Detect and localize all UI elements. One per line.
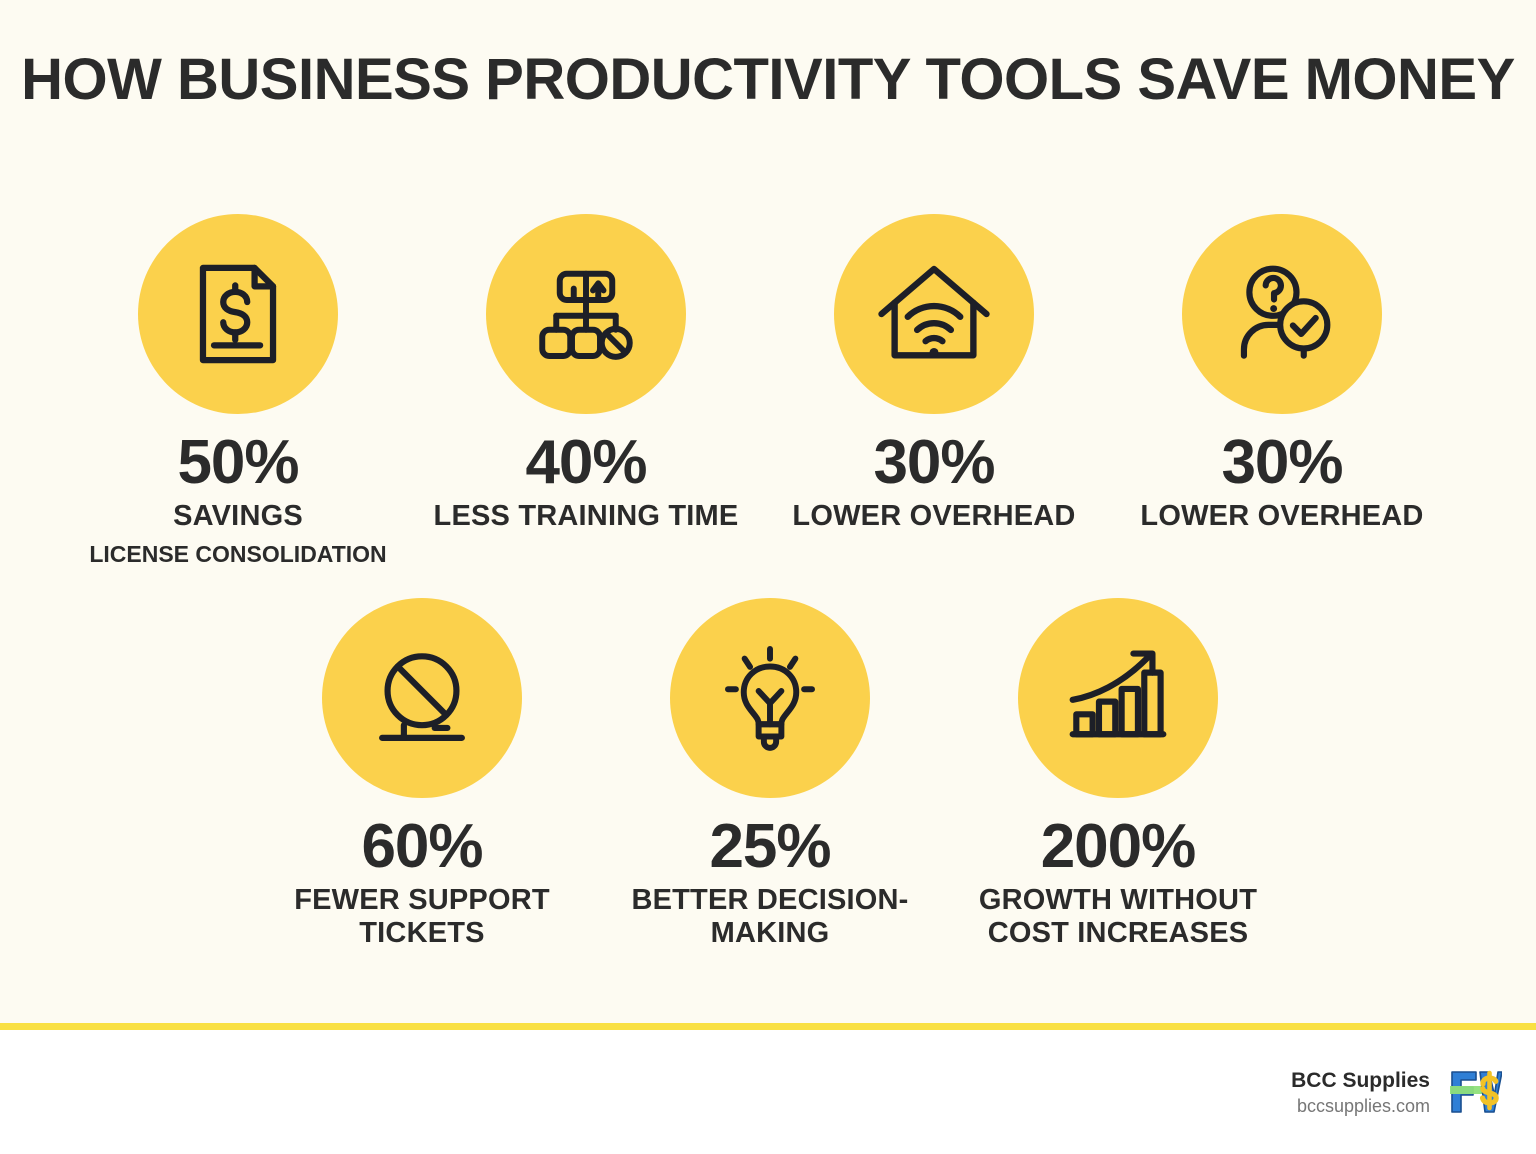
stat-value: 60% (361, 814, 482, 880)
stat-label: LOWER OVERHEAD (1140, 500, 1423, 533)
stat-value: 30% (873, 430, 994, 496)
stat-card-overhead-1: 30% LOWER OVERHEAD (760, 214, 1108, 568)
brand-name: BCC Supplies (1291, 1067, 1430, 1094)
icon-circle (1018, 598, 1218, 798)
icon-circle (834, 214, 1034, 414)
invoice-dollar-icon (179, 255, 297, 373)
infographic-root: HOW BUSINESS PRODUCTIVITY TOOLS SAVE MON… (0, 0, 1536, 1154)
footer: BCC Supplies bccsupplies.com (0, 1030, 1536, 1154)
icon-circle (322, 598, 522, 798)
growth-chart-icon (1060, 640, 1176, 756)
page-title: HOW BUSINESS PRODUCTIVITY TOOLS SAVE MON… (0, 48, 1536, 112)
stat-label: SAVINGS (173, 500, 303, 533)
brand-text-block: BCC Supplies bccsupplies.com (1291, 1067, 1430, 1118)
stat-value: 50% (177, 430, 298, 496)
stat-value: 25% (709, 814, 830, 880)
stat-label: FEWER SUPPORT TICKETS (248, 884, 596, 950)
stat-card-training: 40% LESS TRAINING TIME (412, 214, 760, 568)
stats-row-bottom: 60% FEWER SUPPORT TICKETS (0, 598, 1536, 958)
lightbulb-icon (714, 642, 826, 754)
stat-card-decision-making: 25% BETTER DECISION-MAKING (596, 598, 944, 958)
icon-circle (486, 214, 686, 414)
stat-value: 200% (1041, 814, 1196, 880)
icon-circle (138, 214, 338, 414)
stat-sublabel: LICENSE CONSOLIDATION (89, 541, 386, 568)
stat-value: 30% (1221, 430, 1342, 496)
stat-label: LESS TRAINING TIME (434, 500, 739, 533)
no-ticket-icon (364, 640, 480, 756)
stat-value: 40% (525, 430, 646, 496)
stat-label: LOWER OVERHEAD (792, 500, 1075, 533)
stat-card-overhead-2: 30% LOWER OVERHEAD (1108, 214, 1456, 568)
stat-label: GROWTH WITHOUT COST INCREASES (944, 884, 1292, 950)
stats-row-top: 50% SAVINGS LICENSE CONSOLIDATION (0, 214, 1536, 568)
user-question-check-icon (1224, 256, 1340, 372)
icon-circle (1182, 214, 1382, 414)
icon-circle (670, 598, 870, 798)
house-wifi-icon (874, 254, 994, 374)
stat-card-growth: 200% GROWTH WITHOUT COST INCREASES (944, 598, 1292, 958)
stat-label: BETTER DECISION-MAKING (596, 884, 944, 950)
fsv-dollar-logo (1446, 1067, 1502, 1117)
org-chart-blocked-icon (530, 258, 642, 370)
stat-card-support-tickets: 60% FEWER SUPPORT TICKETS (248, 598, 596, 958)
brand-url: bccsupplies.com (1291, 1094, 1430, 1118)
stat-card-savings: 50% SAVINGS LICENSE CONSOLIDATION (64, 214, 412, 568)
footer-divider (0, 1023, 1536, 1030)
